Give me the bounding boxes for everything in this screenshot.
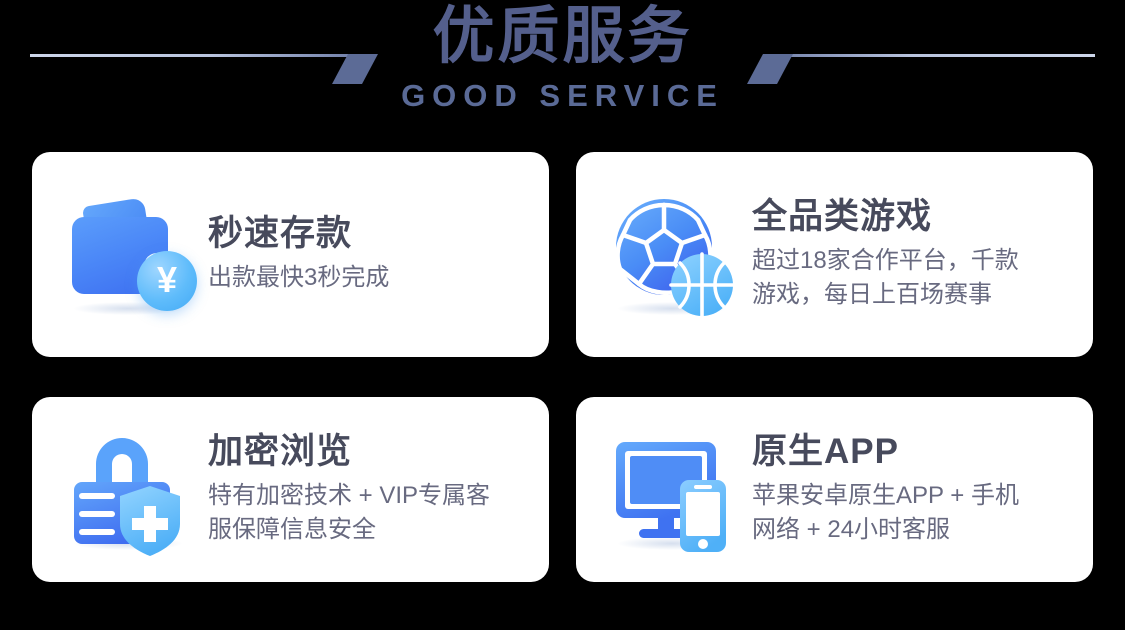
card-title: 原生APP	[752, 432, 1075, 472]
shield-icon	[120, 486, 180, 556]
card-subtitle-line: 游戏，每日上百场赛事	[752, 278, 1075, 312]
card-text-block: 全品类游戏 超过18家合作平台，千款 游戏，每日上百场赛事	[752, 197, 1075, 311]
card-subtitle-line: 特有加密技术 + VIP专属客	[208, 479, 531, 513]
basketball-icon	[671, 254, 733, 316]
title-block: 优质服务 GOOD SERVICE	[0, 6, 1125, 111]
card-subtitle-line: 苹果安卓原生APP + 手机	[752, 479, 1075, 513]
feature-card-native-app[interactable]: 原生APP 苹果安卓原生APP + 手机 网络 + 24小时客服	[576, 397, 1093, 582]
yuan-coin-icon: ¥	[137, 251, 197, 311]
card-subtitle-line: 网络 + 24小时客服	[752, 513, 1075, 547]
card-text-block: 加密浏览 特有加密技术 + VIP专属客 服保障信息安全	[208, 432, 531, 546]
card-text-block: 原生APP 苹果安卓原生APP + 手机 网络 + 24小时客服	[752, 432, 1075, 546]
card-subtitle: 出款最快3秒完成	[208, 261, 531, 295]
yuan-symbol: ¥	[157, 262, 177, 298]
card-subtitle: 苹果安卓原生APP + 手机 网络 + 24小时客服	[752, 479, 1075, 547]
balls-svg	[606, 189, 738, 321]
monitor-phone-icon	[606, 424, 738, 556]
lock-shield-icon	[62, 424, 194, 556]
card-subtitle-line: 超过18家合作平台，千款	[752, 244, 1075, 278]
page-title: 优质服务	[0, 6, 1125, 68]
card-title: 加密浏览	[208, 432, 531, 472]
feature-card-deposit[interactable]: ¥ 秒速存款 出款最快3秒完成	[32, 152, 549, 357]
lock-shackle-icon	[96, 438, 148, 486]
wallet-coin-icon: ¥	[62, 189, 194, 321]
feature-card-encryption[interactable]: 加密浏览 特有加密技术 + VIP专属客 服保障信息安全	[32, 397, 549, 582]
lock-svg	[62, 424, 194, 556]
page-header: 优质服务 GOOD SERVICE	[0, 0, 1125, 140]
card-text-block: 秒速存款 出款最快3秒完成	[208, 214, 531, 294]
devices-svg	[606, 424, 738, 556]
page-subtitle: GOOD SERVICE	[0, 80, 1125, 111]
card-subtitle: 超过18家合作平台，千款 游戏，每日上百场赛事	[752, 244, 1075, 312]
card-subtitle: 特有加密技术 + VIP专属客 服保障信息安全	[208, 479, 531, 547]
phone-icon	[680, 480, 726, 552]
soccer-basketball-icon	[606, 189, 738, 321]
card-subtitle-line: 出款最快3秒完成	[208, 261, 531, 295]
feature-card-games[interactable]: 全品类游戏 超过18家合作平台，千款 游戏，每日上百场赛事	[576, 152, 1093, 357]
card-title: 全品类游戏	[752, 197, 1075, 237]
feature-card-grid: ¥ 秒速存款 出款最快3秒完成	[32, 152, 1093, 582]
card-subtitle-line: 服保障信息安全	[208, 513, 531, 547]
card-title: 秒速存款	[208, 214, 531, 254]
